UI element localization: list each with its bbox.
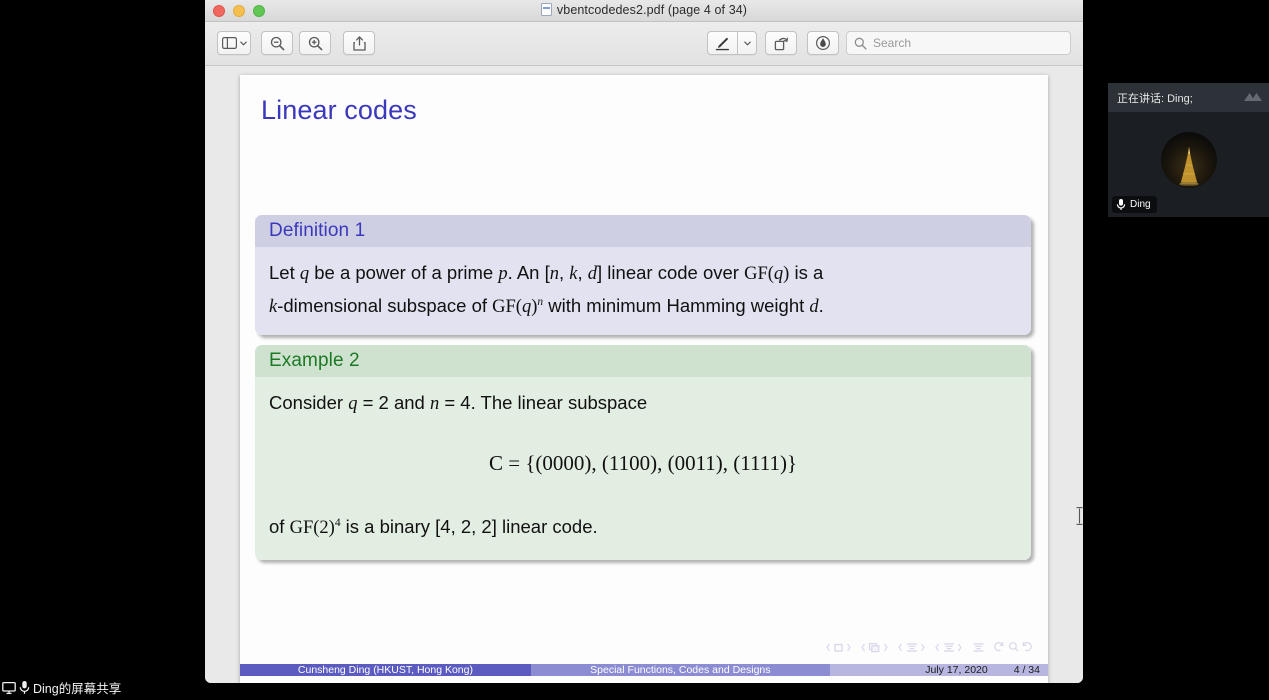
slide-title: Linear codes: [261, 95, 417, 126]
zoom-in-icon: [308, 36, 323, 51]
rotate-button[interactable]: [765, 31, 797, 55]
nav-overview-icon[interactable]: [972, 642, 985, 653]
zoom-in-button[interactable]: [299, 31, 331, 55]
zoom-out-button[interactable]: [261, 31, 293, 55]
footer-meta: July 17, 2020 4 / 34: [830, 664, 1048, 676]
nav-slide-icon[interactable]: [826, 642, 852, 653]
definition-block: Definition 1 Let q be a power of a prime…: [255, 215, 1031, 335]
pdf-canvas[interactable]: Linear codes Definition 1 Let q be a pow…: [205, 67, 1083, 683]
definition-line-1: Let q be a power of a prime p. An [n, k,…: [269, 257, 1017, 290]
example-equation: C = {(0000), (1100), (0011), (1111)}: [269, 446, 1017, 481]
footer-page-number: 4 / 34: [1014, 664, 1040, 676]
chevron-down-icon: [240, 41, 247, 46]
microphone-icon: [1115, 198, 1127, 211]
preview-window: vbentcodedes2.pdf (page 4 of 34): [205, 0, 1083, 683]
example-block: Example 2 Consider q = 2 and n = 4. The …: [255, 345, 1031, 560]
screen-share-status: Ding的屏幕共享: [2, 678, 121, 697]
nav-subsection-icon[interactable]: [898, 642, 926, 653]
pdf-page: Linear codes Definition 1 Let q be a pow…: [240, 75, 1048, 683]
slide-footer: Cunsheng Ding (HKUST, Hong Kong) Special…: [240, 661, 1048, 679]
chevron-down-icon: [744, 41, 751, 46]
pdf-file-icon: [541, 3, 552, 16]
example-heading: Example 2: [255, 345, 1031, 377]
markup-pen-options-button[interactable]: [737, 31, 757, 55]
collapse-chevrons-icon: [1242, 87, 1263, 107]
participant-name: Ding: [1130, 199, 1151, 210]
sidebar-view-button[interactable]: [217, 31, 251, 55]
avatar: [1161, 132, 1217, 188]
zoom-video-panel[interactable]: 正在讲话: Ding;: [1108, 83, 1269, 217]
pen-icon: [715, 36, 730, 51]
share-status-text: Ding的屏幕共享: [33, 678, 121, 697]
collapse-panel-button[interactable]: [1242, 87, 1263, 107]
rotate-icon: [774, 36, 789, 51]
footer-author: Cunsheng Ding (HKUST, Hong Kong): [240, 664, 531, 676]
markup-pen-button[interactable]: [707, 31, 737, 55]
screen: vbentcodedes2.pdf (page 4 of 34): [0, 0, 1269, 700]
footer-date: July 17, 2020: [925, 664, 987, 676]
search-icon: [854, 37, 867, 50]
highlight-button[interactable]: [807, 31, 839, 55]
definition-heading: Definition 1: [255, 215, 1031, 247]
window-title-text: vbentcodedes2.pdf (page 4 of 34): [557, 3, 747, 17]
footer-subject: Special Functions, Codes and Designs: [531, 664, 830, 676]
highlight-icon: [815, 35, 831, 51]
beamer-navigation-symbols[interactable]: [826, 641, 1032, 653]
participant-name-badge: Ding: [1112, 196, 1157, 213]
monitor-icon: [2, 681, 16, 695]
share-icon: [353, 36, 366, 51]
sidebar-icon: [222, 37, 237, 49]
nav-back-search-forward-icon[interactable]: [994, 641, 1032, 653]
search-field[interactable]: Search: [846, 31, 1071, 55]
toolbar: Search: [205, 22, 1083, 66]
zoom-out-icon: [270, 36, 285, 51]
speaking-label: 正在讲话: Ding;: [1117, 90, 1193, 106]
example-body: Consider q = 2 and n = 4. The linear sub…: [255, 377, 1031, 560]
search-placeholder: Search: [873, 36, 911, 50]
eiffel-tower-image: [1176, 146, 1202, 186]
definition-body: Let q be a power of a prime p. An [n, k,…: [255, 247, 1031, 335]
microphone-icon: [18, 680, 31, 695]
definition-line-2: k-dimensional subspace of GF(q)n with mi…: [269, 290, 1017, 323]
window-title: vbentcodedes2.pdf (page 4 of 34): [205, 3, 1083, 17]
window-titlebar: vbentcodedes2.pdf (page 4 of 34): [205, 0, 1083, 22]
nav-section-icon[interactable]: [935, 642, 963, 653]
nav-frame-icon[interactable]: [861, 642, 889, 653]
zoom-panel-header: 正在讲话: Ding;: [1108, 83, 1269, 112]
text-cursor-icon: [1076, 507, 1083, 525]
zoom-video-stage[interactable]: Ding: [1108, 112, 1269, 217]
example-line-1: Consider q = 2 and n = 4. The linear sub…: [269, 387, 1017, 420]
share-button[interactable]: [343, 31, 375, 55]
example-line-2: of GF(2)4 is a binary [4, 2, 2] linear c…: [269, 511, 1017, 544]
